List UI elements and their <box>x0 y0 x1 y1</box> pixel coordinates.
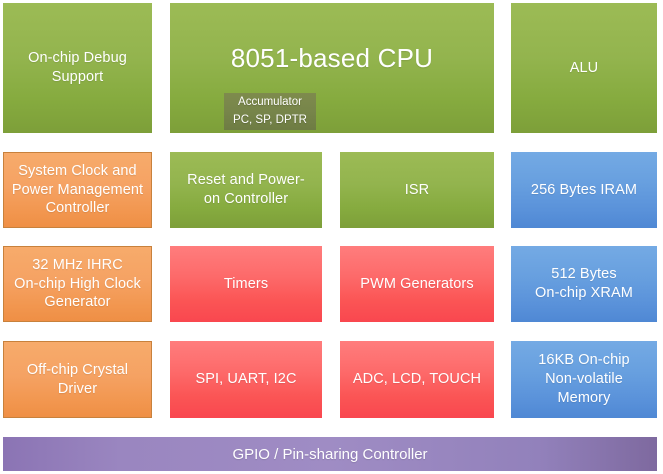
block-adc-lcd-touch[interactable]: ADC, LCD, TOUCH <box>340 341 494 418</box>
block-diagram: On-chip Debug Support 8051-based CPU Acc… <box>0 0 663 474</box>
block-pwm-generators[interactable]: PWM Generators <box>340 246 494 322</box>
block-off-chip-crystal-driver[interactable]: Off-chip Crystal Driver <box>3 341 152 418</box>
block-gpio-pin-sharing-controller[interactable]: GPIO / Pin-sharing Controller <box>3 437 657 471</box>
program-registers-label: PC, SP, DPTR <box>233 112 307 129</box>
block-512-bytes-on-chip-xram[interactable]: 512 Bytes On-chip XRAM <box>511 246 657 322</box>
block-spi-uart-i2c[interactable]: SPI, UART, I2C <box>170 341 322 418</box>
block-on-chip-debug-support[interactable]: On-chip Debug Support <box>3 3 152 133</box>
block-system-clock-power-management-controller[interactable]: System Clock and Power Management Contro… <box>3 152 152 228</box>
block-256-bytes-iram[interactable]: 256 Bytes IRAM <box>511 152 657 228</box>
block-accumulator-registers[interactable]: Accumulator PC, SP, DPTR <box>224 93 316 130</box>
accumulator-label: Accumulator <box>238 94 302 111</box>
block-reset-and-power-on-controller[interactable]: Reset and Power- on Controller <box>170 152 322 228</box>
block-16kb-on-chip-non-volatile-memory[interactable]: 16KB On-chip Non-volatile Memory <box>511 341 657 418</box>
block-timers[interactable]: Timers <box>170 246 322 322</box>
block-isr[interactable]: ISR <box>340 152 494 228</box>
block-8051-cpu[interactable]: 8051-based CPU <box>170 3 494 133</box>
block-32mhz-ihrc-on-chip-high-clock-generator[interactable]: 32 MHz IHRC On-chip High Clock Generator <box>3 246 152 322</box>
block-alu[interactable]: ALU <box>511 3 657 133</box>
